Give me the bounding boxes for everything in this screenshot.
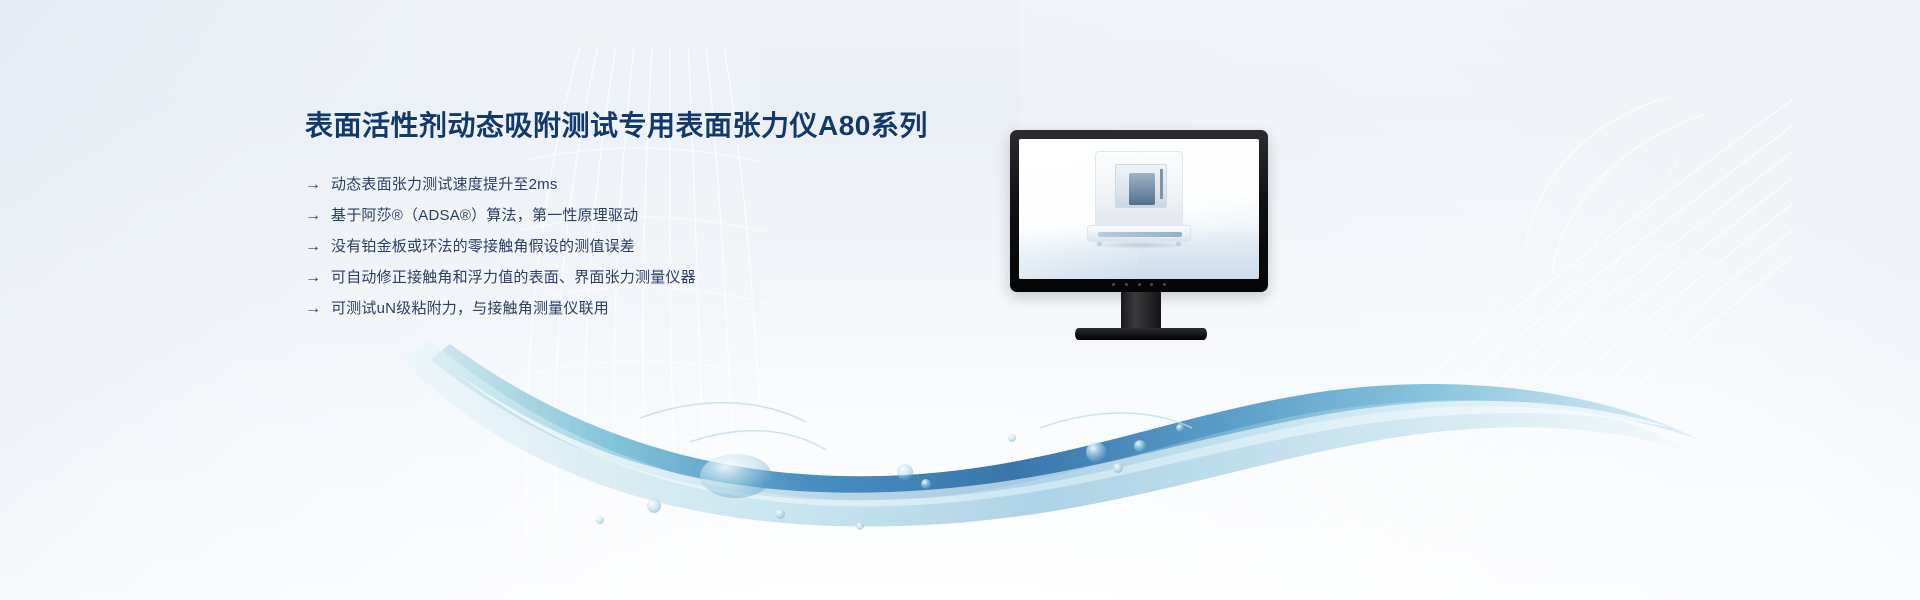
- list-item: → 可测试uN级粘附力，与接触角测量仪联用: [305, 293, 1005, 324]
- instrument-probe-rod: [1160, 169, 1163, 199]
- banner-content: 表面活性剂动态吸附测试专用表面张力仪A80系列 → 动态表面张力测试速度提升至2…: [305, 108, 1005, 324]
- monitor-indicator-dots: [1112, 282, 1166, 286]
- water-wave-graphic: [0, 300, 1920, 600]
- wave-ribbon-upper: [400, 340, 1690, 526]
- arrow-right-icon: →: [305, 301, 331, 317]
- monitor-stand-base: [1075, 328, 1207, 340]
- tensiometer-instrument-image: [1087, 151, 1191, 263]
- list-item: → 没有铂金板或环法的零接触角假设的测值误差: [305, 231, 1005, 262]
- wave-dome-highlight: [700, 454, 772, 498]
- feature-list: → 动态表面张力测试速度提升至2ms → 基于阿莎®（ADSA®）算法，第一性原…: [305, 169, 1005, 324]
- wave-ribbon-main: [430, 344, 1700, 500]
- list-item: → 可自动修正接触角和浮力值的表面、界面张力测量仪器: [305, 262, 1005, 293]
- instrument-base: [1087, 225, 1191, 242]
- wave-splash-lines: [640, 403, 1192, 450]
- instrument-control-strip: [1098, 232, 1182, 237]
- monitor-bezel: [1010, 130, 1268, 292]
- monitor-stand-neck: [1121, 292, 1161, 332]
- product-monitor: [1010, 130, 1272, 340]
- feature-label: 动态表面张力测试速度提升至2ms: [331, 174, 558, 195]
- list-item: → 基于阿莎®（ADSA®）算法，第一性原理驱动: [305, 200, 1005, 231]
- instrument-chamber: [1129, 173, 1155, 205]
- monitor-screen: [1019, 139, 1259, 279]
- feature-label: 没有铂金板或环法的零接触角假设的测值误差: [331, 236, 635, 257]
- page-title: 表面活性剂动态吸附测试专用表面张力仪A80系列: [305, 108, 1005, 143]
- instrument-shadow: [1091, 241, 1187, 249]
- feature-label: 可自动修正接触角和浮力值的表面、界面张力测量仪器: [331, 267, 696, 288]
- water-bubbles: [596, 424, 1184, 530]
- product-banner: 表面活性剂动态吸附测试专用表面张力仪A80系列 → 动态表面张力测试速度提升至2…: [0, 0, 1920, 600]
- instrument-body: [1095, 151, 1183, 227]
- arrow-right-icon: →: [305, 208, 331, 224]
- feature-label: 基于阿莎®（ADSA®）算法，第一性原理驱动: [331, 205, 638, 226]
- arrow-right-icon: →: [305, 270, 331, 286]
- arrow-right-icon: →: [305, 239, 331, 255]
- wave-foam-crest: [455, 372, 1672, 507]
- list-item: → 动态表面张力测试速度提升至2ms: [305, 169, 1005, 200]
- instrument-window: [1115, 164, 1167, 208]
- arrow-right-icon: →: [305, 177, 331, 193]
- feature-label: 可测试uN级粘附力，与接触角测量仪联用: [331, 298, 609, 319]
